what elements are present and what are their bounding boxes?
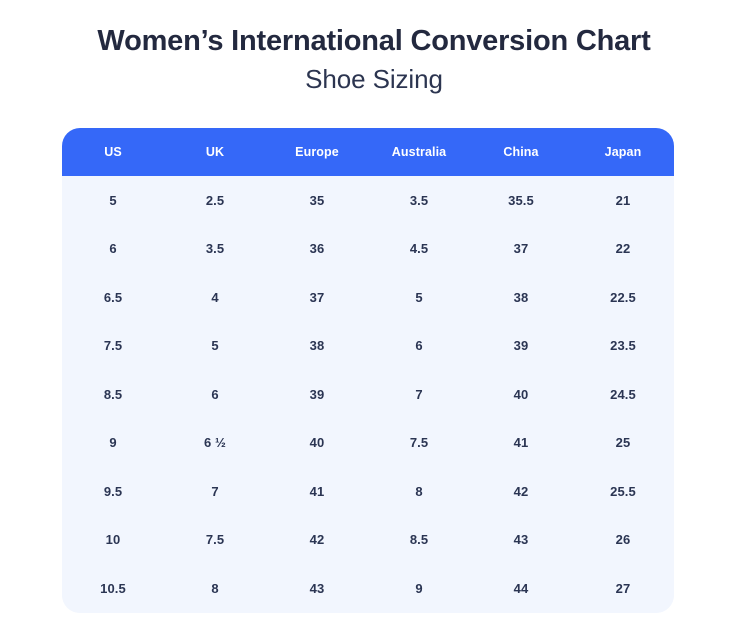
table-column-header-australia: Australia bbox=[368, 128, 470, 176]
table-cell-japan: 22 bbox=[572, 225, 674, 274]
table-cell-japan: 24.5 bbox=[572, 370, 674, 419]
table-cell-us: 8.5 bbox=[62, 370, 164, 419]
table-cell-japan: 23.5 bbox=[572, 322, 674, 371]
table-cell-china: 42 bbox=[470, 467, 572, 516]
table-cell-uk: 6 bbox=[164, 370, 266, 419]
table-row: 63.5364.53722 bbox=[62, 225, 674, 274]
table-column-header-us: US bbox=[62, 128, 164, 176]
table-cell-australia: 8.5 bbox=[368, 516, 470, 565]
table-row: 96 ½407.54125 bbox=[62, 419, 674, 468]
table-column-header-japan: Japan bbox=[572, 128, 674, 176]
table-cell-europe: 35 bbox=[266, 176, 368, 225]
table-cell-europe: 40 bbox=[266, 419, 368, 468]
table-cell-australia: 3.5 bbox=[368, 176, 470, 225]
table-column-header-uk: UK bbox=[164, 128, 266, 176]
table-header: USUKEuropeAustraliaChinaJapan bbox=[62, 128, 674, 176]
table-cell-us: 10 bbox=[62, 516, 164, 565]
table-cell-uk: 8 bbox=[164, 564, 266, 613]
size-conversion-table-container: USUKEuropeAustraliaChinaJapan 52.5353.53… bbox=[62, 128, 674, 613]
table-cell-europe: 38 bbox=[266, 322, 368, 371]
table-row: 10.584394427 bbox=[62, 564, 674, 613]
table-cell-japan: 27 bbox=[572, 564, 674, 613]
table-cell-us: 6.5 bbox=[62, 273, 164, 322]
table-cell-australia: 9 bbox=[368, 564, 470, 613]
table-cell-uk: 5 bbox=[164, 322, 266, 371]
table-cell-us: 5 bbox=[62, 176, 164, 225]
table-cell-australia: 4.5 bbox=[368, 225, 470, 274]
table-cell-us: 9.5 bbox=[62, 467, 164, 516]
table-cell-us: 7.5 bbox=[62, 322, 164, 371]
table-cell-china: 37 bbox=[470, 225, 572, 274]
table-column-header-china: China bbox=[470, 128, 572, 176]
table-cell-china: 43 bbox=[470, 516, 572, 565]
table-cell-japan: 25.5 bbox=[572, 467, 674, 516]
table-cell-uk: 2.5 bbox=[164, 176, 266, 225]
table-cell-china: 44 bbox=[470, 564, 572, 613]
table-cell-japan: 21 bbox=[572, 176, 674, 225]
table-cell-uk: 4 bbox=[164, 273, 266, 322]
table-cell-europe: 39 bbox=[266, 370, 368, 419]
table-cell-europe: 41 bbox=[266, 467, 368, 516]
conversion-chart-page: Women’s International Conversion Chart S… bbox=[0, 0, 748, 635]
size-conversion-table: USUKEuropeAustraliaChinaJapan 52.5353.53… bbox=[62, 128, 674, 613]
table-cell-japan: 26 bbox=[572, 516, 674, 565]
table-cell-us: 6 bbox=[62, 225, 164, 274]
table-cell-china: 38 bbox=[470, 273, 572, 322]
table-cell-australia: 6 bbox=[368, 322, 470, 371]
table-cell-australia: 5 bbox=[368, 273, 470, 322]
table-cell-japan: 22.5 bbox=[572, 273, 674, 322]
table-cell-australia: 7.5 bbox=[368, 419, 470, 468]
table-header-row: USUKEuropeAustraliaChinaJapan bbox=[62, 128, 674, 176]
table-cell-uk: 7 bbox=[164, 467, 266, 516]
table-cell-japan: 25 bbox=[572, 419, 674, 468]
heading-block: Women’s International Conversion Chart S… bbox=[0, 0, 748, 96]
table-cell-europe: 37 bbox=[266, 273, 368, 322]
page-title: Women’s International Conversion Chart bbox=[0, 22, 748, 60]
table-cell-china: 41 bbox=[470, 419, 572, 468]
table-cell-china: 39 bbox=[470, 322, 572, 371]
table-column-header-europe: Europe bbox=[266, 128, 368, 176]
table-row: 7.553863923.5 bbox=[62, 322, 674, 371]
table-cell-us: 10.5 bbox=[62, 564, 164, 613]
table-cell-uk: 7.5 bbox=[164, 516, 266, 565]
table-row: 6.543753822.5 bbox=[62, 273, 674, 322]
table-row: 9.574184225.5 bbox=[62, 467, 674, 516]
table-body: 52.5353.535.52163.5364.537226.543753822.… bbox=[62, 176, 674, 613]
table-cell-australia: 7 bbox=[368, 370, 470, 419]
table-cell-australia: 8 bbox=[368, 467, 470, 516]
table-cell-china: 40 bbox=[470, 370, 572, 419]
table-row: 8.563974024.5 bbox=[62, 370, 674, 419]
table-row: 107.5428.54326 bbox=[62, 516, 674, 565]
table-cell-china: 35.5 bbox=[470, 176, 572, 225]
table-cell-europe: 43 bbox=[266, 564, 368, 613]
table-cell-europe: 42 bbox=[266, 516, 368, 565]
table-cell-uk: 6 ½ bbox=[164, 419, 266, 468]
table-cell-us: 9 bbox=[62, 419, 164, 468]
table-cell-uk: 3.5 bbox=[164, 225, 266, 274]
table-row: 52.5353.535.521 bbox=[62, 176, 674, 225]
page-subtitle: Shoe Sizing bbox=[0, 62, 748, 96]
table-cell-europe: 36 bbox=[266, 225, 368, 274]
